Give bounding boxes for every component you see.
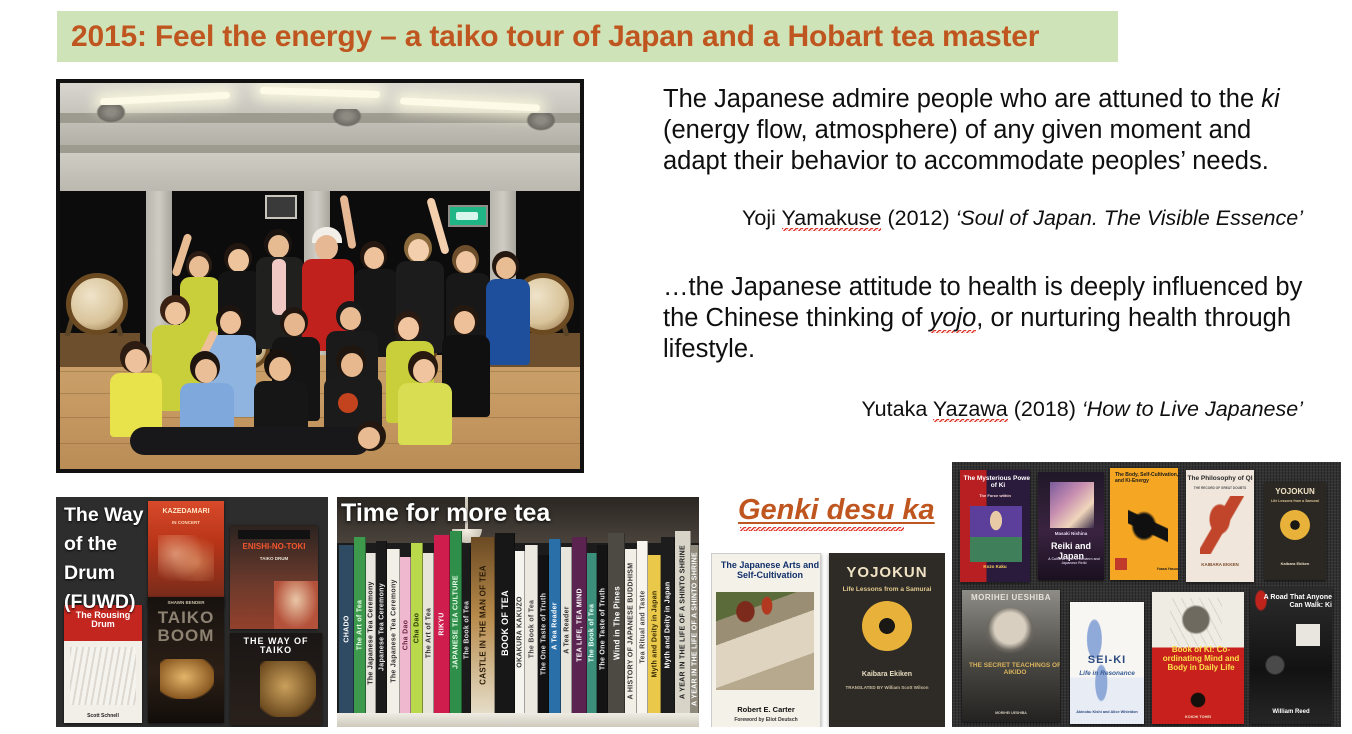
book-title: A Road That Anyone Can Walk: Ki <box>1250 594 1332 609</box>
book-author: Kaibara Ekiken <box>829 671 945 679</box>
dvd-panel-label-line: of the <box>64 530 160 559</box>
slide-title-banner: 2015: Feel the energy – a taiko tour of … <box>57 11 1118 62</box>
book-author: Masaki Nishina <box>1038 532 1104 537</box>
book-a-road-that-anyone-can-walk-ki: A Road That Anyone Can Walk: Ki William … <box>1250 588 1332 724</box>
book-spine: RIKYU <box>434 535 450 713</box>
dvd-panel-label-line: (FUWD) <box>64 588 160 617</box>
book-secret-teachings-of-aikido: MORIHEI UESHIBA THE SECRET TEACHINGS OF … <box>962 590 1060 722</box>
centre-books-image: The Japanese Arts and Self-Cultivation R… <box>711 553 945 727</box>
book-spine: JAPANESE TEA CULTURE <box>450 531 462 713</box>
book-subtitle: Life Lessons from a Samurai <box>1264 500 1326 504</box>
book-foreword: Foreword by Eliot Deutsch <box>712 718 820 724</box>
book-spine: A YEAR IN THE LIFE OF A SHINTO SHRINE <box>675 531 691 713</box>
book-reiki-and-japan: Masaki Nishina Reiki and Japan A Cultura… <box>1038 472 1104 580</box>
book-title: The Japanese Arts and Self-Cultivation <box>712 560 821 580</box>
book-spine: Myth and Deity in Japan <box>648 555 661 713</box>
book-mysterious-power-of-ki: The Mysterious Power of Ki The Force wit… <box>960 470 1030 582</box>
book-body-self-cultivation-ki-energy: The Body, Self-Cultivation, and Ki-Energ… <box>1110 468 1178 580</box>
book-author: Scott Schnell <box>64 714 142 719</box>
photo-ceiling-fan <box>96 105 126 123</box>
quote-attribution-1: Yoji Yamakuse (2012) ‘Soul of Japan. The… <box>663 205 1303 232</box>
book-spine: Japanese Tea Ceremony <box>376 541 387 713</box>
book-spine: The Japanese Tea Ceremony <box>387 549 400 713</box>
book-author: Kozo Kaku <box>960 565 1030 570</box>
book-yojokun: YOJOKUN Life Lessons from a Samurai Kaib… <box>829 553 945 727</box>
quote-paragraph-2: …the Japanese attitude to health is deep… <box>663 272 1303 365</box>
book-spine: A HISTORY OF JAPANESE BUDDHISM <box>625 549 637 713</box>
dvd-panel-label-line: Drum <box>64 559 160 588</box>
spellcheck-word-yazawa: Yazawa <box>933 397 1008 422</box>
book-subtitle: A Cultural View of Western and Japanese … <box>1038 558 1104 566</box>
dvd-enishi-no-toki: ENISHI-NO-TOKI TAIKO DRUM <box>230 525 318 629</box>
dvd-title: THE WAY OF TAIKO <box>230 637 322 656</box>
spellcheck-underline-genki <box>740 527 904 531</box>
book-title: Book of KI: Co-ordinating Mind and Body … <box>1152 646 1244 672</box>
spellcheck-word-yamakuse: Yamakuse <box>782 206 882 231</box>
book-spine: CHADO <box>339 545 354 713</box>
book-author: Kaibara Ekiken <box>1264 562 1326 566</box>
photo-wall <box>60 153 580 195</box>
book-spine: BOOK OF TEA <box>495 533 515 713</box>
photo-exit-sign <box>448 205 488 227</box>
book-title: The Body, Self-Cultivation, and Ki-Energ… <box>1110 473 1178 484</box>
quote-work-title-2: ‘How to Live Japanese’ <box>1082 397 1303 421</box>
book-title: The Philosophy of QI <box>1186 475 1254 482</box>
book-subtitle: Life Lessons from a Samurai <box>829 586 945 593</box>
book-spine: The Book of Tea <box>587 553 597 713</box>
book-spine: A YEAR IN THE LIFE OF A SHINTO SHRINE <box>691 545 699 713</box>
book-title: THE SECRET TEACHINGS OF AIKIDO <box>962 662 1060 676</box>
book-author: Akinobu Kishi and Alice Whieldon <box>1070 710 1144 714</box>
book-author: Robert E. Carter <box>712 706 820 714</box>
photo-ceiling-fan <box>526 113 556 131</box>
book-author: MORIHEI UESHIBA <box>962 712 1060 716</box>
quote-italic-yojo: yojo <box>930 304 977 333</box>
book-translator: TRANSLATED BY William Scott Wilson <box>829 685 945 690</box>
book-spine: OKAKURA KAKUZO <box>515 551 525 713</box>
book-spine: The One Taste of Truth <box>538 555 549 713</box>
quote-column: The Japanese admire people who are attun… <box>663 84 1303 423</box>
genki-desu-ka-label: Genki desu ka <box>738 494 935 527</box>
book-the-rousing-drum: The Rousing Drum Scott Schnell <box>64 605 142 723</box>
photo-wall-clock <box>265 195 297 219</box>
tea-bookshelf-image: CHADO The Art of Tea The Japanese Tea Ce… <box>337 497 699 727</box>
book-subtitle: The Force within <box>960 494 1030 498</box>
ki-books-board-image: The Mysterious Power of Ki The Force wit… <box>952 462 1341 727</box>
photo-taiko-drum <box>66 273 128 335</box>
book-spine: The Book of Tea <box>525 545 538 713</box>
book-author: KOICHI TOHEI <box>1152 715 1244 719</box>
shelf-board <box>337 713 699 727</box>
page-title: 2015: Feel the energy – a taiko tour of … <box>57 20 1039 54</box>
book-subtitle: Life in Resonance <box>1070 670 1144 677</box>
book-spine: Tea Ritual and Taste <box>637 541 648 713</box>
book-spine: A Tea Reader <box>549 539 561 713</box>
tea-panel-label: Time for more tea <box>341 499 550 528</box>
taiko-dvd-board-image: KAZEDAMARI IN CONCERT ENISHI-NO-TOKI TAI… <box>56 497 328 727</box>
book-spine: The Book of Tea <box>462 547 471 713</box>
book-philosophy-of-qi: The Philosophy of QI THE RECORD OF GREAT… <box>1186 470 1254 582</box>
book-author-top: MORIHEI UESHIBA <box>962 594 1060 603</box>
book-spine: CASTLE IN THE MAN OF TEA <box>471 537 495 713</box>
book-spine: The Art of Tea <box>354 537 366 713</box>
book-emblem <box>862 601 912 651</box>
book-sei-ki: SEI-KI Life in Resonance Akinobu Kishi a… <box>1070 602 1144 724</box>
book-yojokun-small: YOJOKUN Life Lessons from a Samurai Kaib… <box>1264 482 1326 580</box>
book-title: The Mysterious Power of Ki <box>960 475 1030 489</box>
book-author: KAIBARA EKKEN <box>1186 563 1254 568</box>
photo-ceiling-beam <box>60 113 580 123</box>
quote-attribution-2: Yutaka Yazawa (2018) ‘How to Live Japane… <box>663 396 1303 423</box>
book-title: SEI-KI <box>1070 654 1144 666</box>
dvd-title: ENISHI-NO-TOKI <box>230 543 318 551</box>
quote-italic-ki: ki <box>1261 85 1279 113</box>
book-cover-photo <box>716 592 814 690</box>
book-spine: Cha Dao <box>411 543 423 713</box>
quote-paragraph-1: The Japanese admire people who are attun… <box>663 84 1303 177</box>
book-spine: A Tea Reader <box>561 547 572 713</box>
book-spine: TEA LIFE, TEA MIND <box>572 537 587 713</box>
book-spine: The Art of Tea <box>423 553 434 713</box>
book-book-of-ki: Book of KI: Co-ordinating Mind and Body … <box>1152 592 1244 724</box>
book-author: William Reed <box>1250 709 1332 716</box>
book-spine: Cha Dao <box>400 557 411 713</box>
dvd-panel-label-line: The Way <box>64 501 160 530</box>
book-spine: The One Taste of Truth <box>597 545 608 713</box>
dvd-the-way-of-taiko: THE WAY OF TAIKO <box>230 633 322 725</box>
dvd-subtitle: TAIKO DRUM <box>230 557 318 562</box>
book-title: YOJOKUN <box>829 565 945 582</box>
quote-work-title-1: ‘Soul of Japan. The Visible Essence’ <box>956 206 1303 230</box>
book-title: YOJOKUN <box>1264 488 1326 497</box>
book-spine: Wind in The Pines <box>608 533 625 713</box>
book-subtitle: THE RECORD OF GREAT DOUBTS <box>1186 487 1254 491</box>
book-spine: Myth and Deity in Japan <box>661 537 675 713</box>
book-spine: The Japanese Tea Ceremony <box>366 553 376 713</box>
book-author: Yuasa Yasuo <box>1110 568 1178 572</box>
photo-ceiling-fan <box>332 109 362 127</box>
dvd-panel-label: The Way of the Drum (FUWD) <box>64 501 160 617</box>
taiko-group-photo <box>56 79 584 473</box>
book-japanese-arts-self-cultivation: The Japanese Arts and Self-Cultivation R… <box>711 553 821 727</box>
